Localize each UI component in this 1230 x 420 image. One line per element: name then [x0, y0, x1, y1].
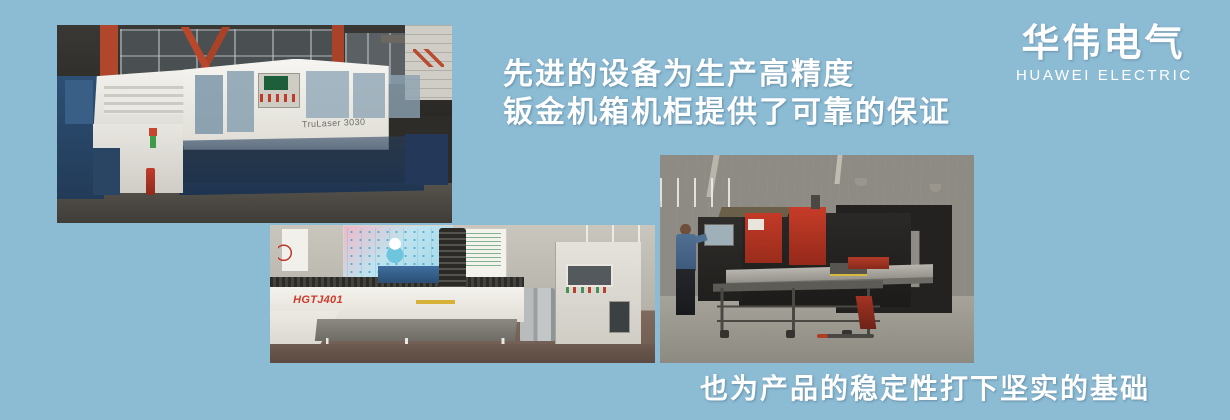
logo-chinese-name: 华伟电气: [1016, 22, 1191, 64]
door-marking: [413, 49, 445, 67]
enclosure-window-2: [227, 71, 255, 132]
side-cabinet-panel: [65, 80, 93, 124]
headline-line-2: 钣金机箱机柜提供了可靠的保证: [503, 94, 951, 132]
equipment-banner: TruLaser 3030 HGTJ401: [0, 0, 1230, 420]
cabinet-pendant: [609, 301, 630, 333]
company-logo: 华伟电气 HUAWEI ELECTRIC: [1016, 22, 1191, 85]
panel-screen: [264, 76, 288, 90]
indicator-light-green: [150, 136, 156, 148]
machine-stack: [811, 195, 820, 210]
wall-poster-figure: [378, 233, 413, 263]
control-cabinet: [555, 242, 641, 355]
photo-laser-cutter: TruLaser 3030: [57, 25, 452, 223]
operator-torso: [676, 234, 696, 271]
photo-cnc-cutter: HGTJ401: [270, 225, 655, 363]
table-caster-2: [786, 330, 795, 338]
enclosure-window-3: [306, 71, 349, 119]
machine-nameplate: [748, 219, 764, 229]
photo-turret-punch: [660, 155, 974, 363]
machine-model-label: HGTJ401: [293, 294, 343, 306]
fire-extinguisher: [146, 168, 155, 196]
machine-red-panel-2: [789, 207, 827, 265]
console-screen: [704, 224, 734, 247]
logo-english-name: HUAWEI ELECTRIC: [1016, 66, 1191, 85]
enclosure-window-1: [195, 75, 223, 134]
cabinet-buttons: [566, 287, 608, 293]
room-floor: [270, 344, 655, 363]
roller-table-frame: [717, 288, 880, 334]
cabinet-screen: [566, 264, 612, 287]
floor-cable: [817, 334, 874, 338]
cable-carrier: [439, 228, 466, 289]
machine-extension: [405, 134, 448, 185]
table-caster-1: [720, 330, 729, 338]
gas-cylinders: [520, 288, 555, 340]
bottom-tagline: 也为产品的稳定性打下坚实的基础: [700, 372, 1150, 406]
wall-poster-text-lines: [463, 233, 502, 269]
warning-label: [416, 300, 455, 304]
machine-base: [179, 136, 424, 195]
coiled-hose: [278, 244, 297, 266]
headline-line-1: 先进的设备为生产高精度: [503, 56, 951, 94]
panel-buttons: [260, 94, 296, 102]
enclosure-window-5: [389, 75, 421, 119]
headline: 先进的设备为生产高精度 钣金机箱机柜提供了可靠的保证: [503, 56, 951, 132]
operator-legs: [676, 269, 695, 315]
indicator-light-red: [149, 128, 157, 136]
enclosure-window-4: [353, 73, 385, 119]
tool-carriage: [378, 266, 440, 283]
red-equipment-box: [848, 257, 889, 269]
machine-front-lower: [93, 148, 121, 196]
